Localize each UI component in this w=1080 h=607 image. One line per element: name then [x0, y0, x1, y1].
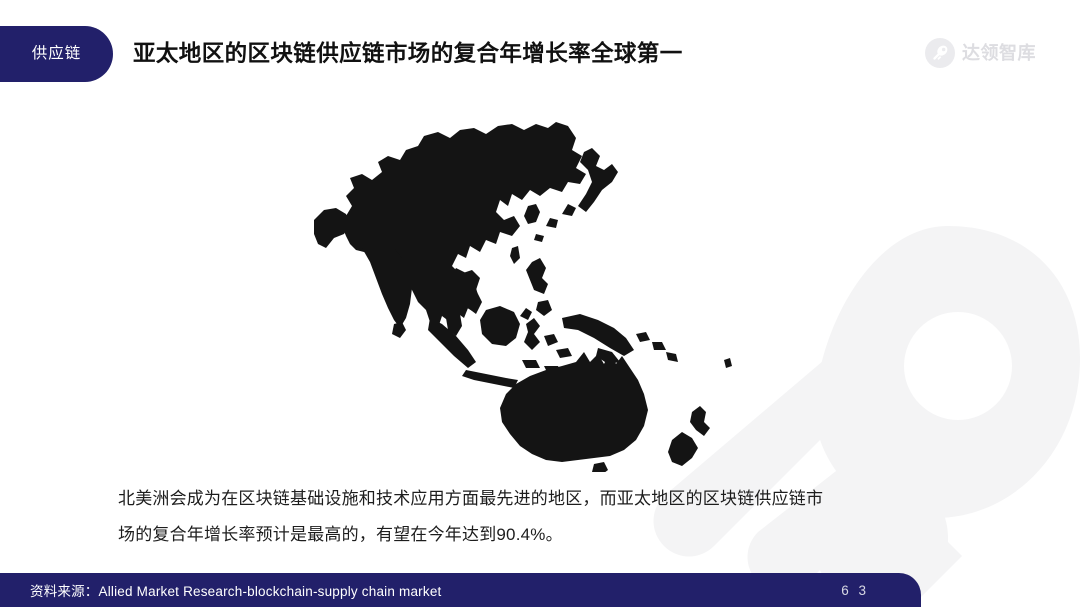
page-number: 6 3: [841, 573, 869, 607]
footer-bar: 资料来源：Allied Market Research-blockchain-s…: [0, 573, 921, 607]
page-title: 亚太地区的区块链供应链市场的复合年增长率全球第一: [133, 39, 683, 68]
body-paragraph: 北美洲会成为在区块链基础设施和技术应用方面最先进的地区，而亚太地区的区块链供应链…: [118, 481, 968, 553]
asia-pacific-map: [300, 112, 740, 472]
section-tag-badge: 供应链: [0, 26, 113, 82]
slide-canvas: 供应链 亚太地区的区块链供应链市场的复合年增长率全球第一 达领智库: [0, 0, 1080, 607]
brand-name-label: 达领智库: [962, 44, 1036, 62]
body-line-2: 场的复合年增长率预计是最高的，有望在今年达到90.4%。: [118, 517, 968, 553]
rocket-icon: [925, 38, 955, 68]
body-line-1: 北美洲会成为在区块链基础设施和技术应用方面最先进的地区，而亚太地区的区块链供应链…: [118, 481, 968, 517]
section-tag-label: 供应链: [32, 46, 82, 62]
brand-logo: 达领智库: [925, 38, 1036, 68]
slide-header: 供应链 亚太地区的区块链供应链市场的复合年增长率全球第一 达领智库: [0, 0, 1080, 108]
source-citation: 资料来源：Allied Market Research-blockchain-s…: [30, 573, 442, 607]
